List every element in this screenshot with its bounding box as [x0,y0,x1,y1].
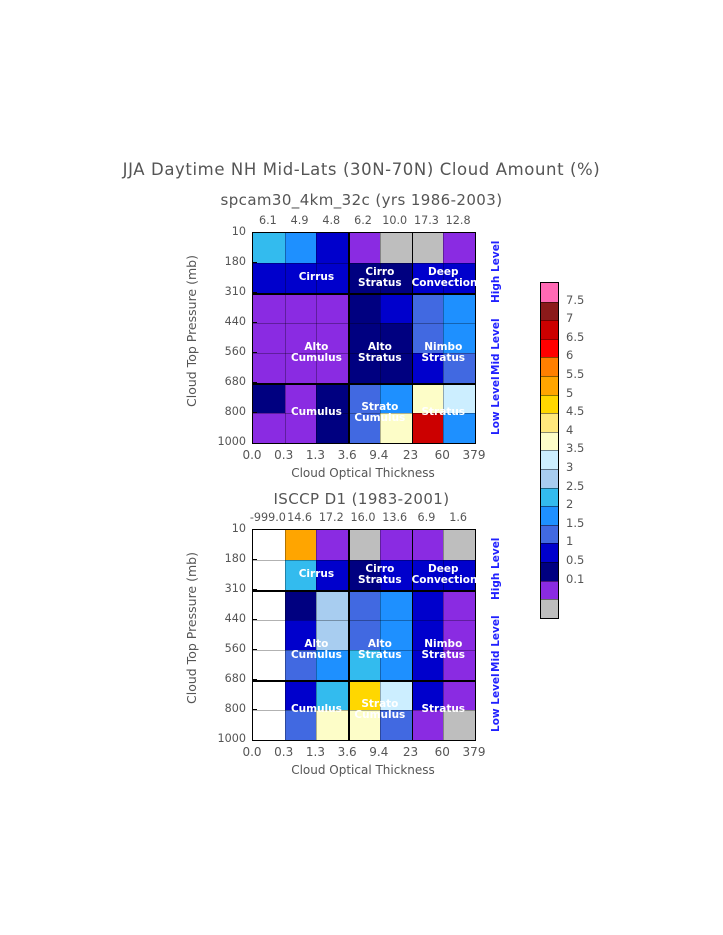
heatmap-cell [348,413,380,443]
colorbar-segment [541,469,558,488]
colorbar-tick-label: 1.5 [566,516,606,530]
heatmap-cell [253,263,285,293]
grid-line-horizontal [253,650,475,651]
heatmap-cell [380,560,412,590]
colorbar-tick-label: 7 [566,311,606,325]
heatmap-cell [443,530,475,560]
colorbar-segment-divider [541,488,558,489]
heatmap-cell [348,590,380,620]
colorbar-tick-label: 0.1 [566,572,606,586]
heatmap-cell [380,353,412,383]
heatmap-cell [443,353,475,383]
y-tick-label: 440 [200,612,246,625]
y-tick-label: 560 [200,642,246,655]
heatmap-cell [285,650,317,680]
colorbar-tick-label: 6 [566,348,606,362]
y-tick-mark [252,412,257,413]
x-tick-label: 379 [454,745,494,759]
y-tick-mark [252,709,257,710]
heatmap-cell [285,560,317,590]
y-tick-label: 310 [200,582,246,595]
y-tick-label: 680 [200,672,246,685]
heatmap-cell [316,233,348,263]
heatmap-cell [285,620,317,650]
grid-line-vertical [285,233,286,443]
panel-isccp-heatmap: CirrusCirroStratusDeepConvectionAltoCumu… [0,529,723,799]
heatmap-cell [285,323,317,353]
heatmap-cell [348,263,380,293]
heatmap-cell [443,650,475,680]
y-tick-label: 560 [200,345,246,358]
heatmap-cell [285,413,317,443]
heatmap-cell [380,383,412,413]
y-tick-label: 800 [200,702,246,715]
colorbar-segment [541,581,558,600]
heatmap-cell [253,353,285,383]
colorbar-tick-label: 4.5 [566,404,606,418]
level-separator-horizontal [253,680,475,682]
heatmap-cell [285,530,317,560]
heatmap-cell [412,560,444,590]
level-band-label: Low Level [490,377,502,436]
colorbar-segment [541,432,558,451]
heatmap-cell [412,710,444,740]
colorbar-segment-divider [541,302,558,303]
level-separator-vertical [348,530,350,740]
y-tick-mark [252,292,257,293]
colorbar-segment [541,357,558,376]
heatmap-cell [443,383,475,413]
heatmap-cell [380,413,412,443]
colorbar-segment-divider [541,543,558,544]
heatmap-cell [316,560,348,590]
heatmap-cell [380,590,412,620]
colorbar-segment-divider [541,450,558,451]
y-tick-label: 310 [200,285,246,298]
heatmap-cell [380,710,412,740]
panel-spcam-heatmap: CirrusCirroStratusDeepConvectionAltoCumu… [0,232,723,502]
colorbar-segment [541,413,558,432]
heatmap-cell [316,323,348,353]
y-axis-title: Cloud Top Pressure (mb) [184,552,199,704]
heatmap-cell [348,233,380,263]
level-separator-vertical [412,233,414,443]
heatmap-cell [443,710,475,740]
colorbar-tick-label: 2.5 [566,479,606,493]
heatmap-cell [285,710,317,740]
grid-line-vertical [443,530,444,740]
heatmap-cell [253,383,285,413]
heatmap-cell [253,293,285,323]
colorbar-segment-divider [541,469,558,470]
grid-line-vertical [443,233,444,443]
level-separator-vertical [348,233,350,443]
heatmap-cell [348,680,380,710]
heatmap-cell [316,590,348,620]
colorbar-segment-divider [541,320,558,321]
heatmap-cell [253,620,285,650]
heatmap-cell [412,383,444,413]
column-total-label: 1.6 [430,511,486,524]
colorbar-tick-label: 0.5 [566,553,606,567]
colorbar-tick-label: 2 [566,497,606,511]
heatmap-cell [443,620,475,650]
heatmap-cell [412,620,444,650]
heatmap-cell [380,323,412,353]
grid-line-horizontal [253,710,475,711]
heatmap-cell [316,530,348,560]
grid-line-vertical [285,530,286,740]
heatmap-cell [380,680,412,710]
colorbar-tick-label: 5 [566,386,606,400]
y-tick-mark [252,679,257,680]
heatmap-cell [380,293,412,323]
heatmap-cell [443,233,475,263]
heatmap-cell [316,710,348,740]
y-tick-mark [252,382,257,383]
colorbar-segment [541,450,558,469]
heatmap-cell [348,383,380,413]
heatmap-cell [412,323,444,353]
colorbar-segment [541,488,558,507]
y-tick-mark [252,649,257,650]
y-tick-mark [252,352,257,353]
heatmap-cell [443,293,475,323]
colorbar-segment [541,525,558,544]
heatmap-grid: CirrusCirroStratusDeepConvectionAltoCumu… [252,232,476,444]
heatmap-cell [412,680,444,710]
x-axis-title: Cloud Optical Thickness [252,763,474,777]
y-tick-label: 180 [200,255,246,268]
colorbar-segment [541,320,558,339]
grid-line-horizontal [253,413,475,414]
heatmap-cell [316,263,348,293]
colorbar-segment [541,339,558,358]
grid-line-horizontal [253,263,475,264]
heatmap-cell [412,590,444,620]
grid-line-vertical [380,233,381,443]
colorbar-segment [541,506,558,525]
heatmap-grid: CirrusCirroStratusDeepConvectionAltoCumu… [252,529,476,741]
heatmap-cell [348,323,380,353]
colorbar-segment [541,283,558,302]
heatmap-cell [412,530,444,560]
heatmap-cell [380,620,412,650]
heatmap-cell [316,620,348,650]
heatmap-cell [443,680,475,710]
heatmap-cell [380,233,412,263]
level-band-label: Mid Level [490,616,502,673]
x-axis-title: Cloud Optical Thickness [252,466,474,480]
colorbar-tick-label: 5.5 [566,367,606,381]
level-separator-horizontal [253,590,475,592]
heatmap-cell [253,323,285,353]
heatmap-cell [380,263,412,293]
heatmap-cell [316,353,348,383]
heatmap-cell [412,263,444,293]
heatmap-cell [253,650,285,680]
y-tick-mark [252,559,257,560]
heatmap-cell [443,413,475,443]
heatmap-cell [348,530,380,560]
y-axis-title: Cloud Top Pressure (mb) [184,255,199,407]
y-tick-label: 10 [200,225,246,238]
level-separator-horizontal [253,383,475,385]
grid-line-vertical [380,530,381,740]
heatmap-cell [412,353,444,383]
heatmap-cell [253,233,285,263]
level-separator-horizontal [253,293,475,295]
y-tick-label: 800 [200,405,246,418]
heatmap-cell [348,710,380,740]
heatmap-cell [380,530,412,560]
colorbar-tick-label: 6.5 [566,330,606,344]
column-total-label: 12.8 [430,214,486,227]
heatmap-cell [253,530,285,560]
colorbar-segment-divider [541,525,558,526]
colorbar-segment [541,376,558,395]
colorbar-segment [541,395,558,414]
heatmap-cell [285,590,317,620]
level-band-label: High Level [490,241,502,303]
heatmap-cell [285,263,317,293]
y-tick-label: 1000 [200,435,246,448]
heatmap-cell [253,680,285,710]
grid-line-horizontal [253,620,475,621]
y-tick-label: 440 [200,315,246,328]
colorbar-segment [541,562,558,581]
heatmap-cell [412,413,444,443]
heatmap-cell [412,293,444,323]
heatmap-cell [253,560,285,590]
heatmap-cell [443,590,475,620]
heatmap-cell [285,353,317,383]
y-tick-mark [252,619,257,620]
heatmap-cell [412,233,444,263]
heatmap-cell [348,620,380,650]
figure-canvas: JJA Daytime NH Mid-Lats (30N-70N) Cloud … [0,0,723,935]
heatmap-cell [316,383,348,413]
colorbar-segment-divider [541,506,558,507]
grid-line-horizontal [253,353,475,354]
y-tick-label: 180 [200,552,246,565]
y-tick-label: 10 [200,522,246,535]
heatmap-cell [285,383,317,413]
heatmap-cell [348,293,380,323]
level-band-label: Mid Level [490,319,502,376]
heatmap-cell [348,353,380,383]
heatmap-cell [316,650,348,680]
colorbar-segment-divider [541,599,558,600]
heatmap-cell [253,590,285,620]
grid-line-horizontal [253,323,475,324]
grid-line-vertical [316,530,317,740]
heatmap-cell [412,650,444,680]
grid-line-horizontal [253,560,475,561]
heatmap-cell [253,710,285,740]
figure-main-title: JJA Daytime NH Mid-Lats (30N-70N) Cloud … [0,160,723,179]
colorbar-segment [541,599,558,618]
colorbar-segment-divider [541,581,558,582]
x-tick-label: 379 [454,448,494,462]
colorbar-segment-divider [541,562,558,563]
level-separator-vertical [412,530,414,740]
y-tick-label: 1000 [200,732,246,745]
colorbar-segment-divider [541,376,558,377]
colorbar-tick-label: 3.5 [566,441,606,455]
heatmap-cell [380,650,412,680]
heatmap-cell [285,293,317,323]
heatmap-cell [443,263,475,293]
y-tick-mark [252,322,257,323]
y-tick-label: 680 [200,375,246,388]
y-tick-mark [252,262,257,263]
colorbar-segment [541,543,558,562]
level-band-label: High Level [490,538,502,600]
y-tick-mark [252,589,257,590]
heatmap-cell [316,413,348,443]
colorbar-tick-label: 7.5 [566,293,606,307]
heatmap-cell [348,650,380,680]
heatmap-cell [285,233,317,263]
colorbar-tick-label: 3 [566,460,606,474]
colorbar-scale [540,282,559,619]
level-band-label: Low Level [490,674,502,733]
colorbar-tick-label: 1 [566,534,606,548]
heatmap-cell [316,680,348,710]
panel1-subtitle: spcam30_4km_32c (yrs 1986-2003) [0,191,723,209]
heatmap-cell [348,560,380,590]
heatmap-cell [443,323,475,353]
heatmap-cell [285,680,317,710]
heatmap-cell [443,560,475,590]
heatmap-cell [316,293,348,323]
colorbar-segment-divider [541,395,558,396]
colorbar-tick-label: 4 [566,423,606,437]
colorbar-segment [541,302,558,321]
colorbar-segment-divider [541,357,558,358]
colorbar-segment-divider [541,413,558,414]
heatmap-cell [253,413,285,443]
colorbar-segment-divider [541,432,558,433]
colorbar-segment-divider [541,339,558,340]
grid-line-vertical [316,233,317,443]
